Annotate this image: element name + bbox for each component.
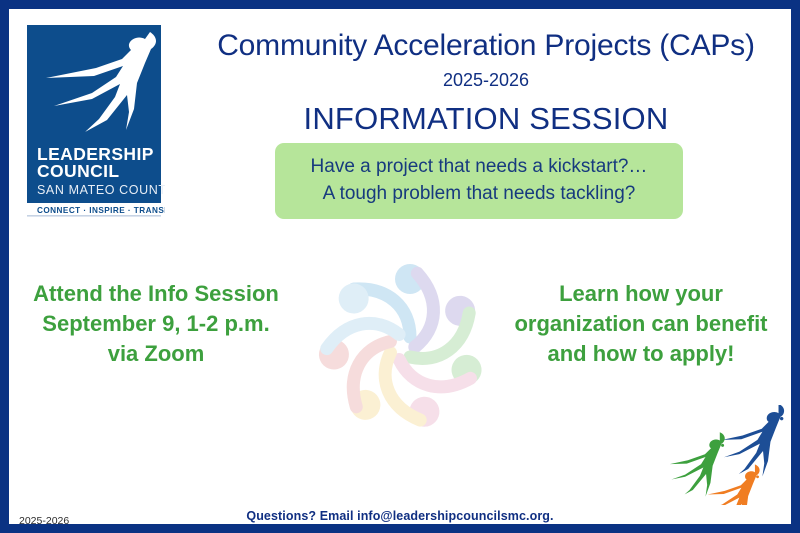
callout-line-1: Have a project that needs a kickstart?…: [291, 153, 667, 180]
contact-email-line: Questions? Email info@leadershipcouncils…: [9, 509, 791, 523]
logo-line2: COUNCIL: [37, 161, 120, 181]
bird-blue-icon: [722, 405, 784, 476]
left-line-1: Attend the Info Session: [13, 279, 299, 309]
bird-green-icon: [670, 432, 725, 496]
callout-line-2: A tough problem that needs tackling?: [291, 180, 667, 207]
right-line-3: and how to apply!: [497, 339, 785, 369]
footer-year-tag: 2025-2026: [19, 515, 69, 527]
program-years: 2025-2026: [171, 67, 800, 93]
bird-orange-icon: [708, 464, 760, 505]
logo-tagline: CONNECT · INSPIRE · TRANSFORM: [37, 206, 165, 215]
logo-line3: SAN MATEO COUNTY: [37, 183, 165, 197]
leadership-council-logo: LEADERSHIP COUNCIL SAN MATEO COUNTY CONN…: [23, 21, 165, 217]
people-circle-graphic: [292, 237, 512, 457]
left-line-3: via Zoom: [13, 339, 299, 369]
benefits-details: Learn how your organization can benefit …: [497, 279, 785, 369]
flyer-inner: LEADERSHIP COUNCIL SAN MATEO COUNTY CONN…: [9, 9, 791, 524]
callout-box: Have a project that needs a kickstart?… …: [275, 143, 683, 219]
three-birds-mark: [661, 405, 797, 505]
page-title: Community Acceleration Projects (CAPs): [171, 27, 800, 65]
info-session-details: Attend the Info Session September 9, 1-2…: [13, 279, 299, 369]
right-line-1: Learn how your: [497, 279, 785, 309]
right-line-2: organization can benefit: [497, 309, 785, 339]
headline-block: Community Acceleration Projects (CAPs) 2…: [171, 27, 800, 139]
session-subtitle: INFORMATION SESSION: [171, 99, 800, 139]
left-line-2: September 9, 1-2 p.m.: [13, 309, 299, 339]
flyer-canvas: LEADERSHIP COUNCIL SAN MATEO COUNTY CONN…: [0, 0, 800, 533]
